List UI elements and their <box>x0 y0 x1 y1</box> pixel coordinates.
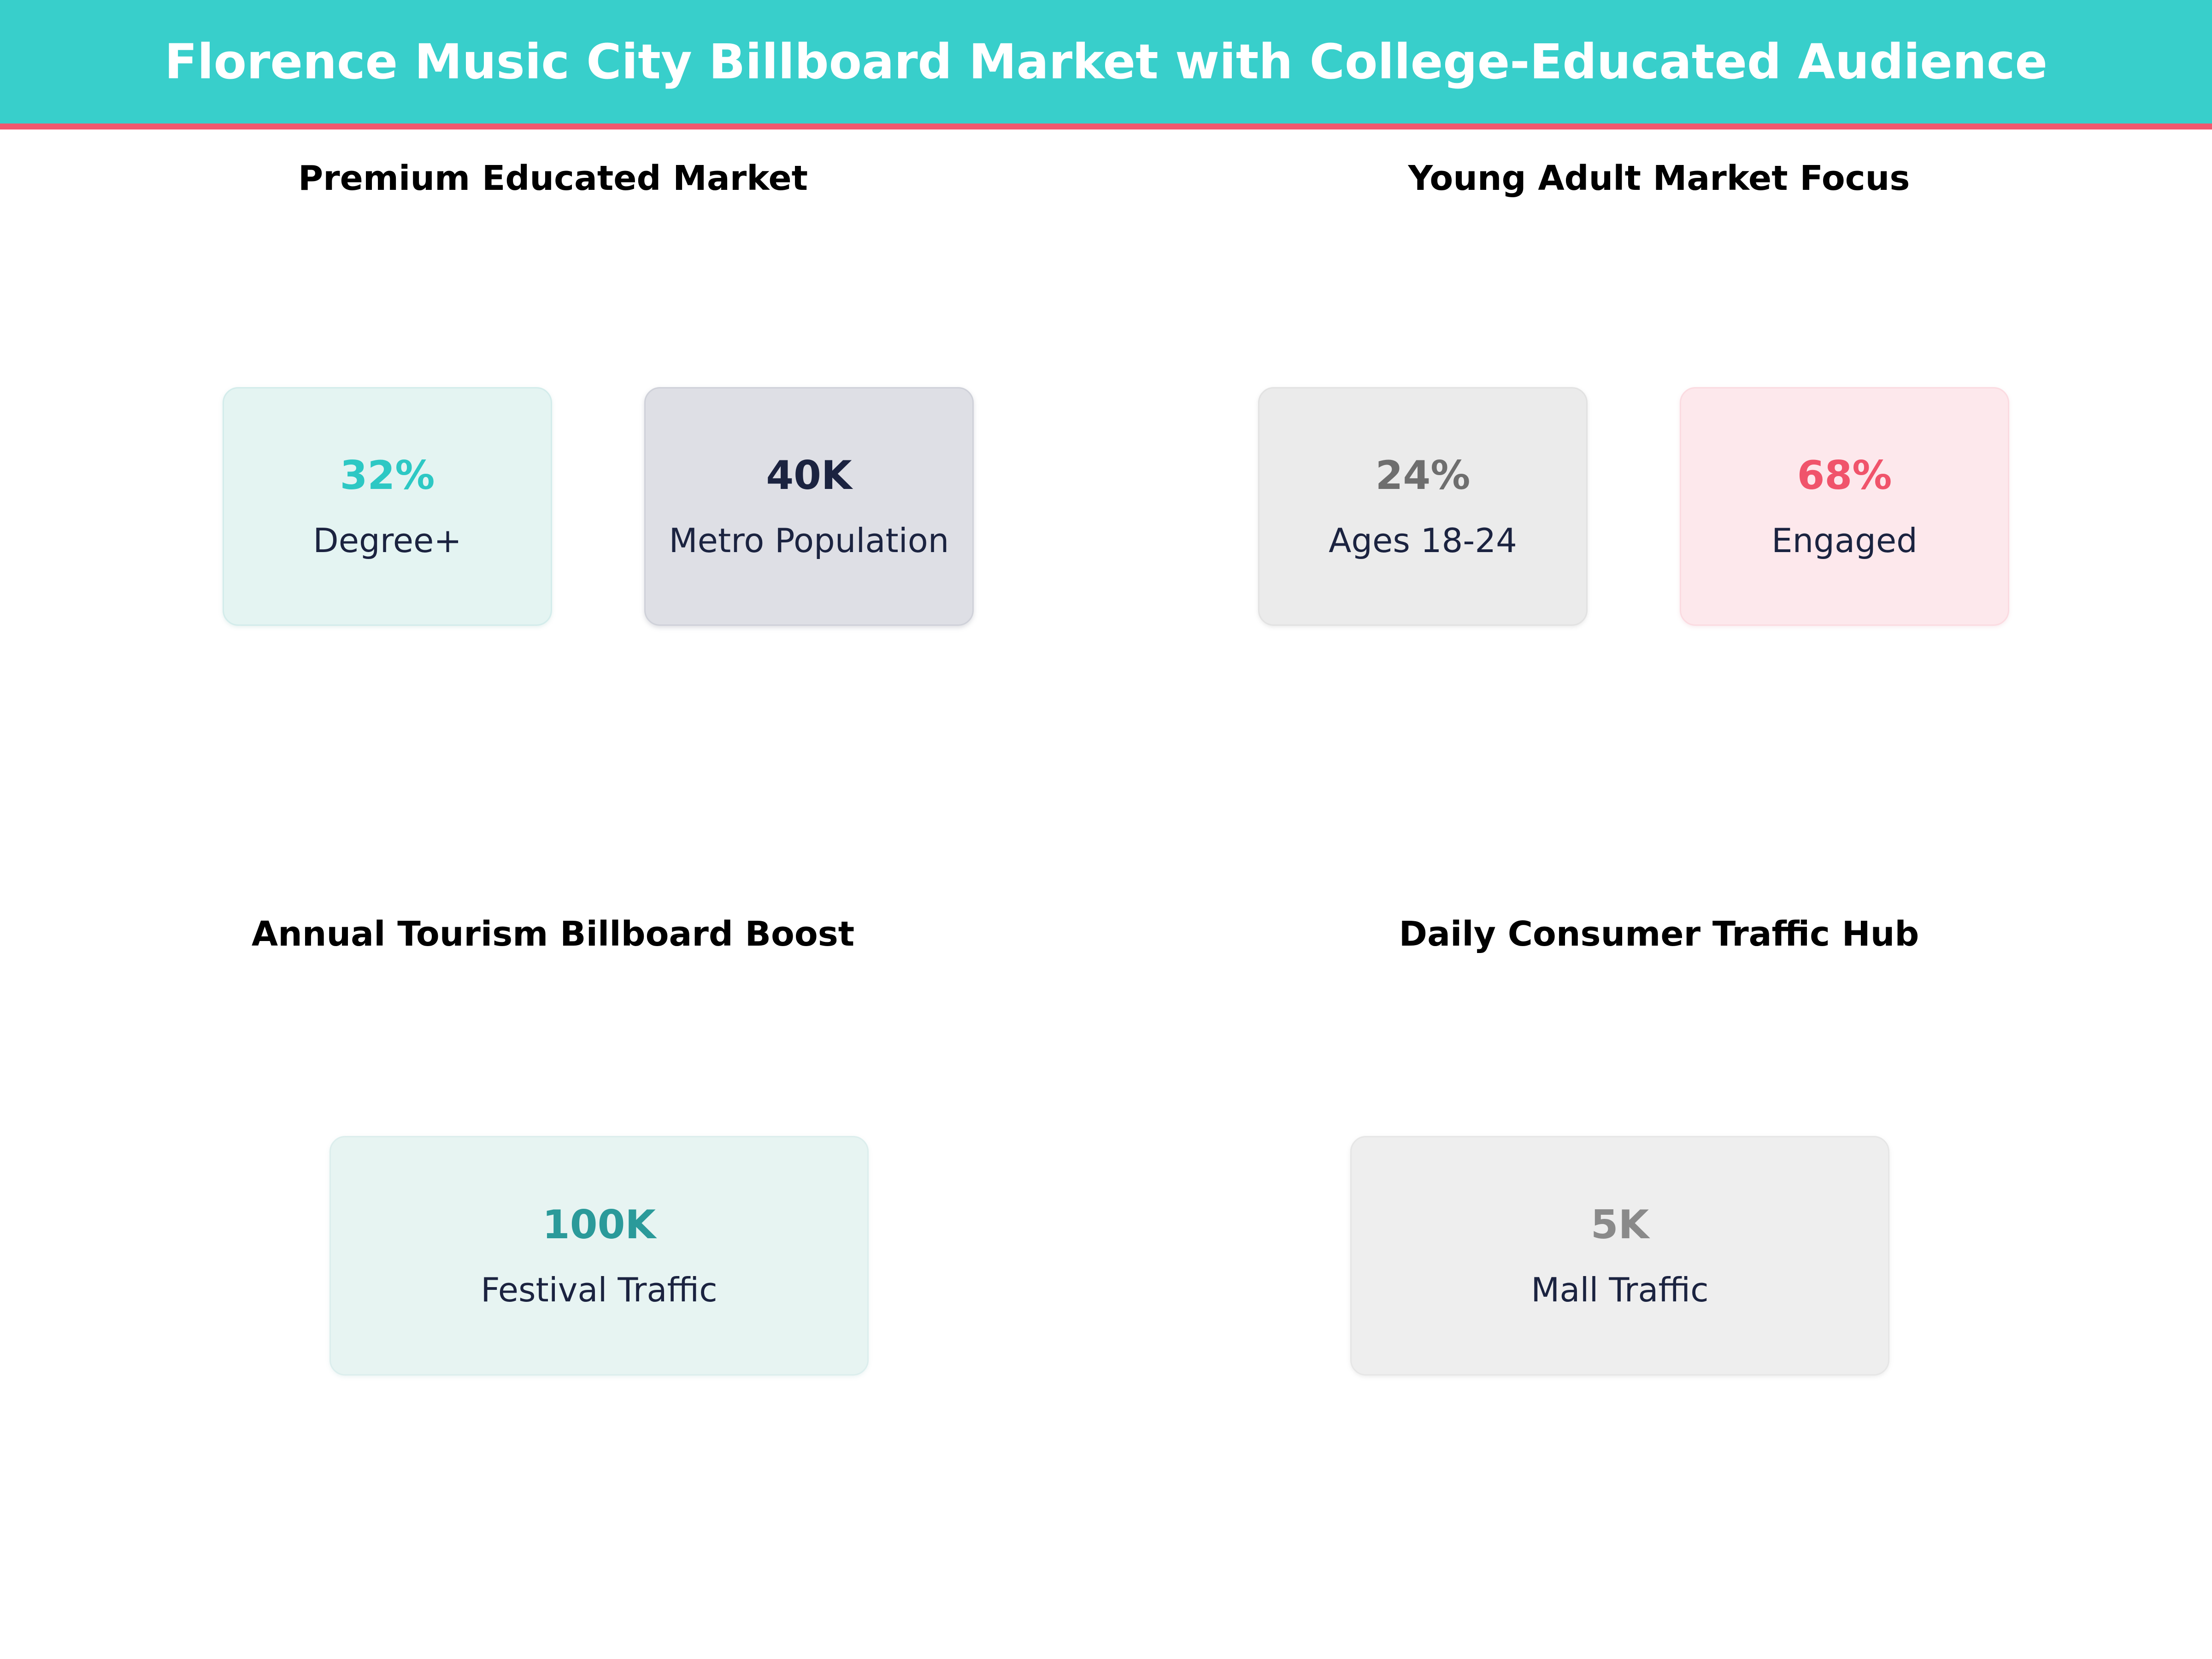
panel-title-daily-consumer-traffic-hub: Daily Consumer Traffic Hub <box>1106 917 2212 951</box>
kpi-label-festival-traffic: Festival Traffic <box>481 1273 717 1306</box>
kpi-label-engaged: Engaged <box>1771 524 1918 557</box>
header-accent-bar <box>0 124 2212 129</box>
panel-daily-consumer-traffic-hub: Daily Consumer Traffic Hub 5K Mall Traff… <box>1106 917 2212 1562</box>
kpi-label-metro-population: Metro Population <box>669 524 949 557</box>
kpi-card-festival-traffic[interactable]: 100K Festival Traffic <box>329 1136 869 1376</box>
panel-young-adult-market-focus: Young Adult Market Focus 24% Ages 18-24 … <box>1106 161 2212 853</box>
kpi-label-ages-18-24: Ages 18-24 <box>1329 524 1517 557</box>
panel-title-young-adult-market-focus: Young Adult Market Focus <box>1106 161 2212 195</box>
kpi-value-festival-traffic: 100K <box>542 1205 656 1245</box>
kpi-value-mall-traffic: 5K <box>1591 1205 1649 1245</box>
kpi-label-degree-plus: Degree+ <box>313 524 461 557</box>
page-title: Florence Music City Billboard Market wit… <box>165 38 2047 86</box>
kpi-card-metro-population[interactable]: 40K Metro Population <box>644 387 974 626</box>
panel-title-premium-educated-market: Premium Educated Market <box>0 161 1106 195</box>
panel-title-annual-tourism-billboard-boost: Annual Tourism Billboard Boost <box>0 917 1106 951</box>
kpi-card-engaged[interactable]: 68% Engaged <box>1680 387 2009 626</box>
kpi-value-ages-18-24: 24% <box>1376 456 1471 495</box>
kpi-value-metro-population: 40K <box>766 456 852 495</box>
dashboard-header: Florence Music City Billboard Market wit… <box>0 0 2212 124</box>
kpi-dashboard: Florence Music City Billboard Market wit… <box>0 0 2212 1659</box>
kpi-value-engaged: 68% <box>1797 456 1892 495</box>
kpi-card-ages-18-24[interactable]: 24% Ages 18-24 <box>1258 387 1588 626</box>
panel-annual-tourism-billboard-boost: Annual Tourism Billboard Boost 100K Fest… <box>0 917 1106 1562</box>
kpi-card-mall-traffic[interactable]: 5K Mall Traffic <box>1350 1136 1889 1376</box>
kpi-label-mall-traffic: Mall Traffic <box>1531 1273 1708 1306</box>
panel-premium-educated-market: Premium Educated Market 32% Degree+ 40K … <box>0 161 1106 853</box>
kpi-card-degree-plus[interactable]: 32% Degree+ <box>223 387 552 626</box>
kpi-value-degree-plus: 32% <box>340 456 435 495</box>
